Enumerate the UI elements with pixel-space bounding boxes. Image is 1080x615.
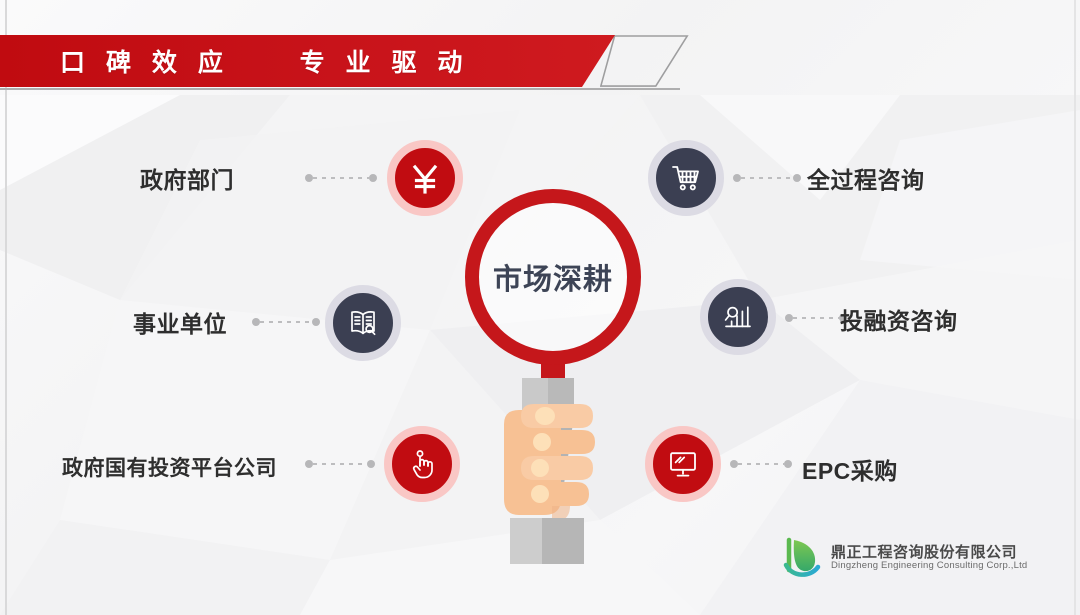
hand-illustration-icon: [490, 378, 650, 578]
shopping-cart-icon: [671, 164, 701, 192]
logo-company-name-en: Dingzheng Engineering Consulting Corp.,L…: [831, 561, 1027, 572]
book-search-icon: [348, 309, 378, 337]
connector-right-2: [785, 314, 847, 322]
connector-dot: [730, 460, 738, 468]
node-state-investment-platform[interactable]: [384, 426, 460, 502]
connector-dash: [313, 463, 367, 465]
connector-dash: [313, 177, 369, 179]
right-border-line: [1074, 0, 1076, 615]
node-full-process-consulting[interactable]: [648, 140, 724, 216]
connector-dot: [305, 174, 313, 182]
banner-underline: [0, 88, 680, 90]
connector-dot: [367, 460, 375, 468]
node-label-full-process-consulting: 全过程咨询: [807, 161, 925, 195]
connector-dot: [312, 318, 320, 326]
node-epc-procurement[interactable]: [645, 426, 721, 502]
connector-dash: [260, 321, 312, 323]
connector-dot: [784, 460, 792, 468]
node-label-public-institution: 事业单位: [133, 305, 227, 339]
connector-dot: [252, 318, 260, 326]
connector-left-2: [252, 318, 320, 326]
slide-canvas: 口 碑 效 应 专 业 驱 动 政府部门 事业单位: [0, 0, 1080, 615]
connector-dot: [305, 460, 313, 468]
company-logo: 鼎正工程咨询股份有限公司 Dingzheng Engineering Consu…: [782, 537, 1027, 579]
banner-title: 口 碑 效 应 专 业 驱 动: [60, 35, 469, 87]
connector-left-1: [305, 174, 377, 182]
connector-dot: [369, 174, 377, 182]
node-bubble[interactable]: [387, 140, 463, 216]
yen-currency-icon: [410, 162, 440, 194]
node-label-epc-procurement: EPC采购: [802, 452, 898, 486]
node-bubble[interactable]: [325, 285, 401, 361]
connector-right-3: [730, 460, 792, 468]
node-bubble[interactable]: [645, 426, 721, 502]
connector-dot: [785, 314, 793, 322]
node-label-investment-financing-consulting: 投融资咨询: [840, 302, 958, 336]
node-investment-financing-consulting[interactable]: [700, 279, 776, 355]
node-label-state-investment-platform: 政府国有投资平台公司: [62, 452, 277, 482]
node-public-institution[interactable]: [325, 285, 401, 361]
magnifier-center-label: 市场深耕: [465, 189, 641, 365]
connector-dash: [741, 177, 793, 179]
connector-dot: [793, 174, 801, 182]
banner-chevron-outline: [600, 35, 690, 88]
hand-click-icon: [409, 449, 435, 479]
node-label-government-department: 政府部门: [140, 161, 234, 195]
dingzheng-leaf-logo-icon: [782, 537, 822, 579]
node-bubble[interactable]: [700, 279, 776, 355]
node-government-department[interactable]: [387, 140, 463, 216]
connector-dash: [793, 317, 839, 319]
logo-company-name-cn: 鼎正工程咨询股份有限公司: [831, 544, 1027, 561]
connector-right-1: [733, 174, 801, 182]
connector-left-3: [305, 460, 375, 468]
header-banner: 口 碑 效 应 专 业 驱 动: [0, 35, 700, 93]
monitor-screen-icon: [668, 450, 698, 478]
bar-chart-search-icon: [723, 303, 753, 331]
node-bubble[interactable]: [384, 426, 460, 502]
connector-dash: [738, 463, 784, 465]
logo-text-block: 鼎正工程咨询股份有限公司 Dingzheng Engineering Consu…: [831, 544, 1027, 572]
connector-dot: [733, 174, 741, 182]
node-bubble[interactable]: [648, 140, 724, 216]
